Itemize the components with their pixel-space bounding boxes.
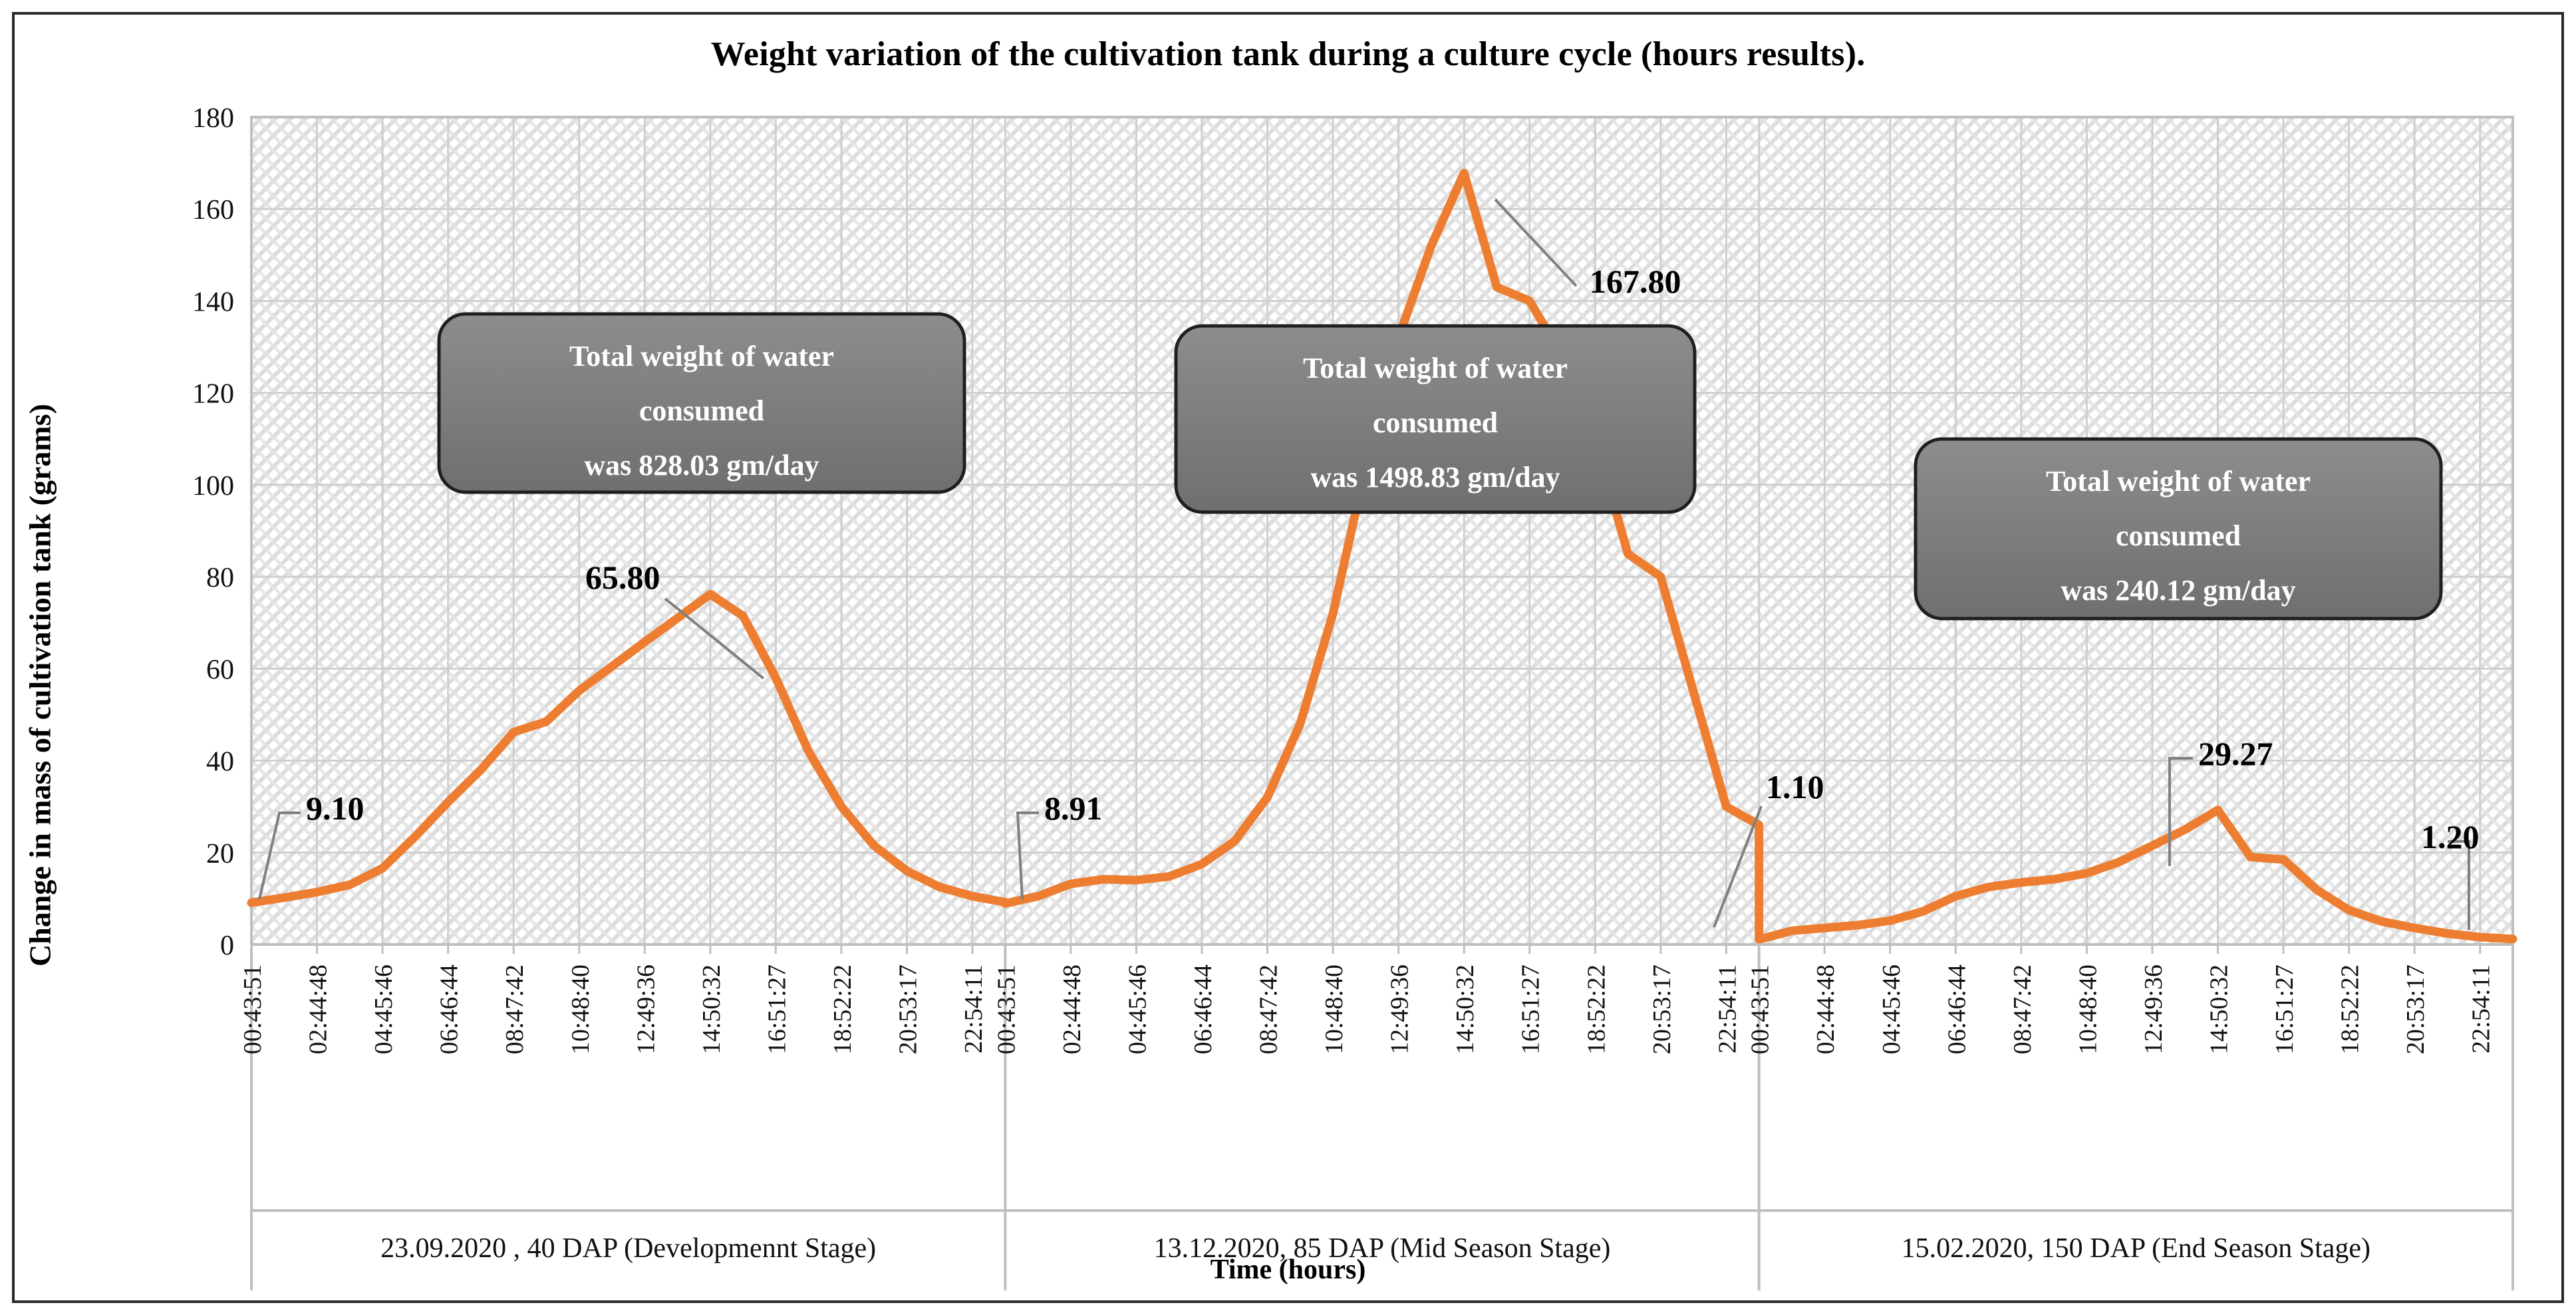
callout-line: consumed — [639, 394, 764, 427]
y-tick-label: 180 — [192, 103, 234, 134]
x-tick-label: 10:48:40 — [567, 964, 595, 1054]
y-tick-label: 100 — [192, 471, 234, 502]
x-tick-label: 20:53:17 — [895, 964, 923, 1054]
callout-line: consumed — [2116, 519, 2241, 552]
x-tick-label: 22:54:11 — [960, 964, 988, 1054]
x-tick-label: 08:47:42 — [1255, 964, 1283, 1054]
x-tick-label: 06:46:44 — [436, 964, 464, 1054]
x-tick-label: 20:53:17 — [2402, 964, 2430, 1054]
data-label: 29.27 — [2198, 735, 2273, 772]
x-tick-label: 04:45:46 — [1878, 964, 1906, 1054]
x-tick-label: 20:53:17 — [1648, 964, 1676, 1054]
y-tick-label: 140 — [192, 287, 234, 317]
y-tick-label: 60 — [206, 655, 234, 685]
callout-line: Total weight of water — [2046, 465, 2311, 498]
x-tick-label: 16:51:27 — [2271, 964, 2299, 1054]
callout-line: was 240.12 gm/day — [2061, 574, 2295, 607]
x-tick-label: 00:43:51 — [239, 964, 267, 1054]
callout-box: Total weight of waterconsumedwas 240.12 … — [1916, 439, 2441, 619]
x-tick-label: 02:44:48 — [1058, 964, 1086, 1054]
x-tick-label: 12:49:36 — [1386, 964, 1414, 1054]
callout-box: Total weight of waterconsumedwas 1498.83… — [1176, 326, 1695, 512]
y-tick-label: 0 — [220, 931, 234, 961]
x-tick-label: 14:50:32 — [1451, 964, 1479, 1054]
data-label: 65.80 — [585, 559, 660, 596]
x-tick-label: 00:43:51 — [992, 964, 1020, 1054]
x-tick-label: 00:43:51 — [1747, 964, 1775, 1054]
y-tick-label: 80 — [206, 563, 234, 593]
y-tick-label: 20 — [206, 839, 234, 869]
x-tick-label: 10:48:40 — [2074, 964, 2102, 1054]
plot-area-wrapper: 02040608010012014016018000:43:5102:44:48… — [0, 0, 2576, 1315]
panel-caption: 23.09.2020 , 40 DAP (Developmennt Stage) — [380, 1233, 876, 1264]
x-tick-label: 06:46:44 — [1943, 964, 1971, 1054]
x-tick-label: 18:52:22 — [829, 964, 857, 1054]
data-label: 167.80 — [1590, 263, 1681, 300]
callout-line: consumed — [1373, 406, 1498, 439]
x-tick-label: 12:49:36 — [632, 964, 660, 1054]
x-tick-label: 16:51:27 — [763, 964, 791, 1054]
data-label: 8.91 — [1044, 790, 1103, 827]
callout-line: was 828.03 gm/day — [584, 449, 819, 482]
x-tick-label: 18:52:22 — [1582, 964, 1610, 1054]
callout-box: Total weight of waterconsumedwas 828.03 … — [439, 314, 964, 492]
x-tick-label: 14:50:32 — [2206, 964, 2233, 1054]
callout-line: Total weight of water — [569, 340, 834, 372]
x-tick-label: 14:50:32 — [698, 964, 726, 1054]
y-tick-label: 40 — [206, 747, 234, 778]
x-tick-label: 12:49:36 — [2140, 964, 2168, 1054]
x-tick-label: 02:44:48 — [305, 964, 333, 1054]
x-tick-label: 08:47:42 — [2009, 964, 2037, 1054]
x-tick-label: 04:45:46 — [1123, 964, 1151, 1054]
x-tick-label: 10:48:40 — [1320, 964, 1348, 1054]
panel-caption: 13.12.2020, 85 DAP (Mid Season Stage) — [1154, 1233, 1611, 1264]
x-tick-label: 08:47:42 — [501, 964, 529, 1054]
panel-caption: 15.02.2020, 150 DAP (End Season Stage) — [1902, 1233, 2370, 1264]
callout-line: Total weight of water — [1303, 352, 1568, 384]
y-tick-label: 120 — [192, 379, 234, 410]
callout-line: was 1498.83 gm/day — [1310, 461, 1560, 494]
figure-root: Weight variation of the cultivation tank… — [0, 0, 2576, 1315]
line-chart-svg: 02040608010012014016018000:43:5102:44:48… — [0, 0, 2576, 1315]
x-tick-label: 22:54:11 — [1713, 964, 1741, 1054]
x-tick-label: 16:51:27 — [1517, 964, 1545, 1054]
x-tick-label: 06:46:44 — [1189, 964, 1217, 1054]
x-tick-label: 04:45:46 — [370, 964, 398, 1054]
data-label: 1.10 — [1766, 768, 1824, 805]
y-tick-label: 160 — [192, 195, 234, 225]
x-tick-label: 02:44:48 — [1812, 964, 1840, 1054]
data-label: 1.20 — [2421, 818, 2480, 855]
data-label: 9.10 — [306, 790, 364, 827]
x-tick-label: 22:54:11 — [2468, 964, 2496, 1054]
x-tick-label: 18:52:22 — [2337, 964, 2364, 1054]
